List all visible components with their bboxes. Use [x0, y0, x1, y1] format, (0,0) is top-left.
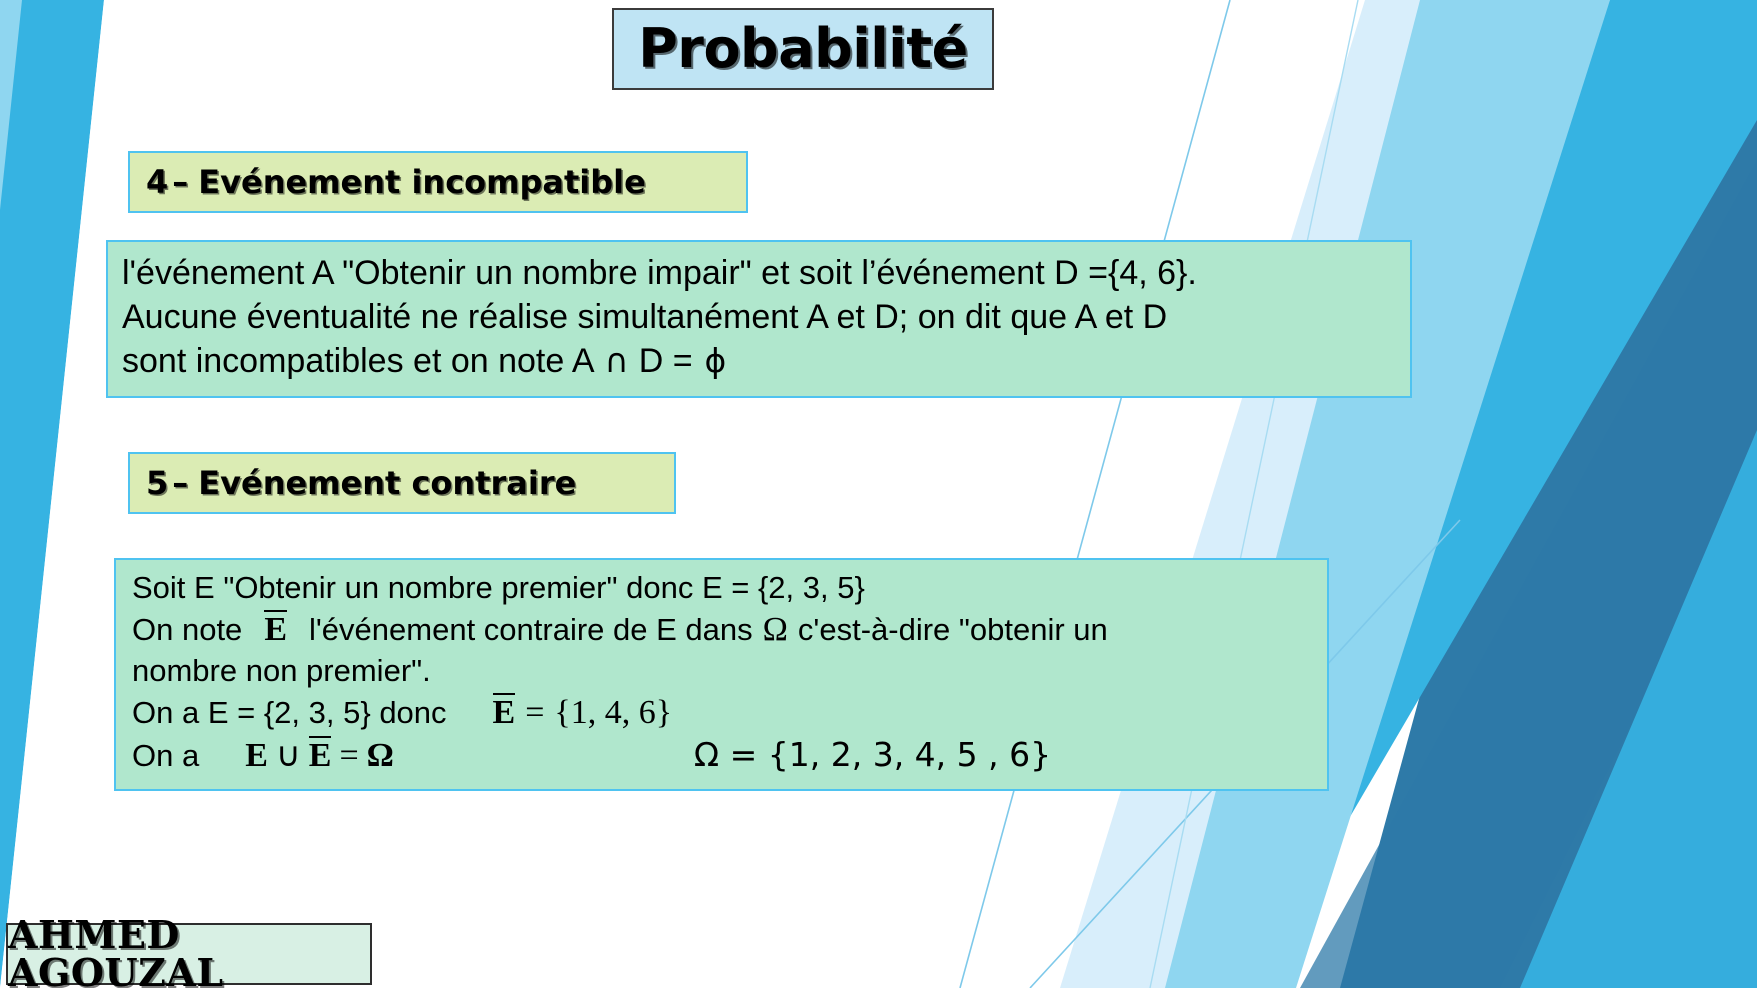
equals-sign: =	[525, 691, 544, 735]
phi-icon: ϕ	[705, 340, 727, 383]
slide-content: Probabilité 4 – Evénement incompatible l…	[0, 0, 1757, 988]
section-number-5: 5	[146, 464, 168, 502]
equals-sign: =	[339, 734, 358, 778]
body-line: Aucune éventualité ne réalise simultaném…	[122, 296, 1396, 340]
body-text-fragment: On a	[132, 736, 199, 776]
page-title: Probabilité	[638, 22, 968, 76]
author-name: AHMED AGOUZAL	[8, 916, 370, 988]
body-text-fragment: On a E = {2, 3, 5} donc	[132, 693, 447, 733]
section-heading-4: 4 – Evénement incompatible	[128, 151, 748, 213]
body-text-fragment: sont incompatibles et on note A	[122, 340, 595, 384]
union-icon: ∪	[276, 734, 301, 778]
e-complement-symbol: E	[264, 610, 287, 647]
section-label-4: Evénement incompatible	[198, 163, 646, 201]
author-footer-box: AHMED AGOUZAL	[6, 923, 372, 985]
intersection-icon: ∩	[605, 340, 629, 383]
e-symbol: E	[245, 734, 268, 778]
section-4-body-box: l'événement A "Obtenir un nombre impair"…	[106, 240, 1412, 398]
e-complement-symbol: E	[309, 736, 332, 773]
body-line: Soit E "Obtenir un nombre premier" donc …	[132, 568, 1313, 608]
omega-icon: Ω	[763, 608, 788, 652]
section-dash-4: –	[172, 163, 188, 201]
body-line: nombre non premier".	[132, 651, 1313, 691]
section-heading-5: 5 – Evénement contraire	[128, 452, 676, 514]
section-dash-5: –	[172, 464, 188, 502]
body-line-with-math: sont incompatibles et on note A ∩ D = ϕ	[122, 340, 1396, 384]
body-line-with-math: On a E ∪ E = Ω Ω = {1, 2, 3, 4, 5 , 6}	[132, 734, 1313, 778]
e-complement-symbol: E	[493, 693, 516, 730]
body-text-fragment: c'est-à-dire "obtenir un	[798, 610, 1108, 650]
section-number-4: 4	[146, 163, 168, 201]
omega-icon: Ω	[367, 734, 394, 778]
universe-set-value: Ω = {1, 2, 3, 4, 5 , 6}	[694, 734, 1051, 776]
set-value: {1, 4, 6}	[554, 691, 672, 735]
body-text-fragment: D =	[639, 340, 693, 384]
body-line-with-math: On a E = {2, 3, 5} donc E = {1, 4, 6}	[132, 691, 1313, 735]
body-text-fragment: On note	[132, 610, 242, 650]
body-line: l'événement A "Obtenir un nombre impair"…	[122, 252, 1396, 296]
section-5-body-box: Soit E "Obtenir un nombre premier" donc …	[114, 558, 1329, 791]
slide-canvas: Probabilité 4 – Evénement incompatible l…	[0, 0, 1757, 988]
body-text-fragment: l'événement contraire de E dans	[309, 610, 753, 650]
section-label-5: Evénement contraire	[198, 464, 576, 502]
slide-title-box: Probabilité	[612, 8, 994, 90]
body-line-with-math: On note E l'événement contraire de E dan…	[132, 608, 1313, 652]
